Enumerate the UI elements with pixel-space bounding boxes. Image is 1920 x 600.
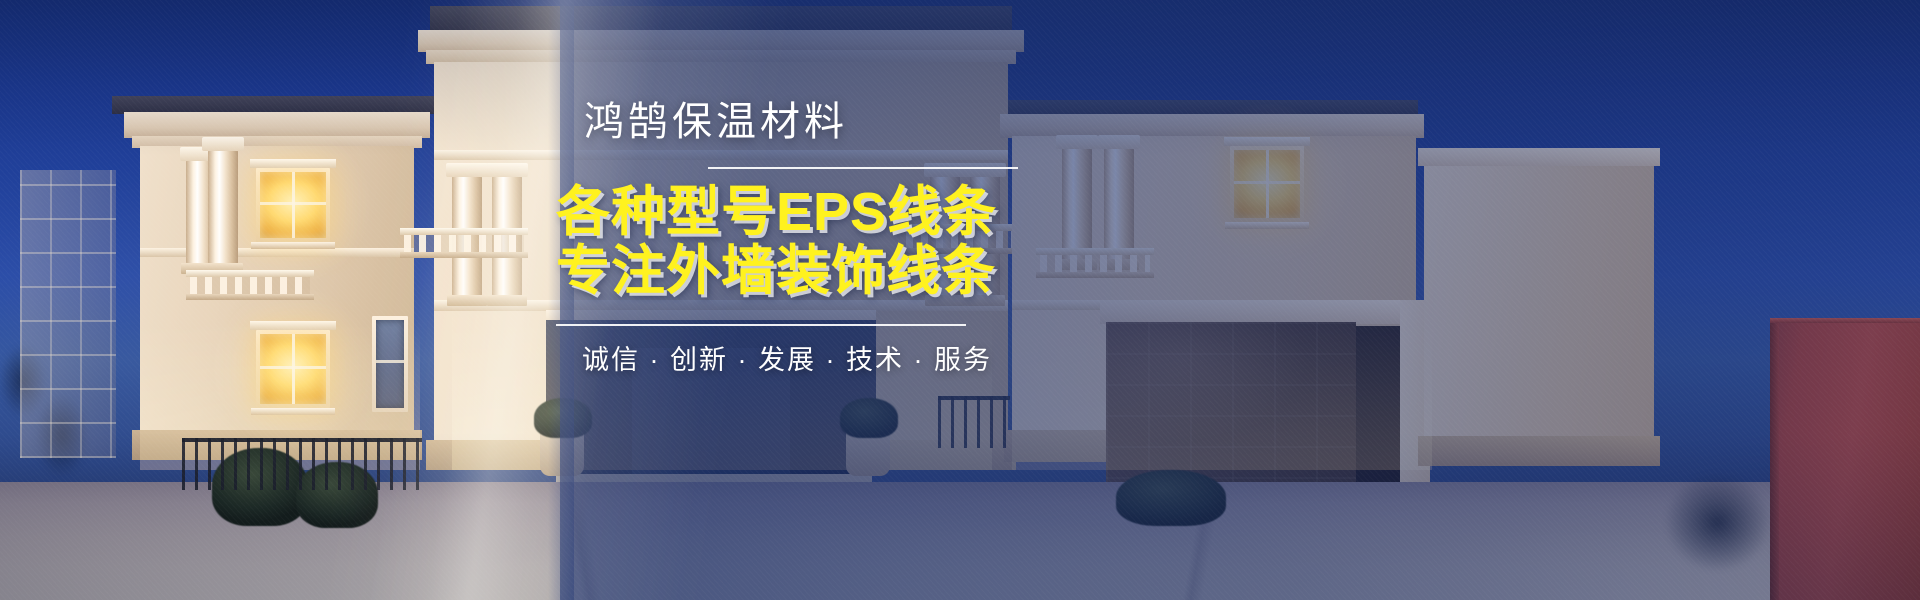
left-wing-string-course [140,248,414,257]
iron-railing-right [938,396,1010,448]
column-right-b [1104,148,1134,260]
far-right-cornice [1418,148,1660,166]
shrub-center-right [840,398,898,438]
company-name: 鸿鹄保温材料 [556,96,1026,149]
headline: 各种型号EPS线条 专注外墙装饰线条 [556,183,1026,302]
balustrade-right [1040,248,1150,278]
shrub-right [1116,470,1226,526]
left-wing-cornice [124,112,430,138]
column-right-a [1062,148,1092,260]
headline-line-2: 专注外墙装饰线条 [556,242,1026,301]
divider-lower [556,324,966,326]
scaffolding-left [20,170,116,458]
red-wall-cap [1770,318,1920,323]
hero-banner: 鸿鹄保温材料 各种型号EPS线条 专注外墙装饰线条 诚信 · 创新 · 发展 ·… [0,0,1920,600]
center-cornice-upper [418,30,1024,52]
window-sill-left-lower [251,408,335,415]
window-lit-left-upper [256,168,330,242]
tagline: 诚信 · 创新 · 发展 · 技术 · 服务 [556,338,1026,377]
headline-line-1: 各种型号EPS线条 [556,183,1026,242]
balustrade-left [190,270,310,300]
window-head-left-upper [250,159,336,168]
banner-text-block: 鸿鹄保温材料 各种型号EPS线条 专注外墙装饰线条 诚信 · 创新 · 发展 ·… [556,96,1026,377]
center-roof [430,6,1012,32]
far-right-base [1418,436,1660,466]
red-wall-panel [1770,318,1920,600]
balustrade-center-left [404,228,524,258]
window-lit-left-lower [256,330,330,408]
far-right-wall [1424,160,1654,460]
iron-railing [182,438,422,490]
shrub-center-left [534,398,592,438]
window-lit-right-upper [1230,146,1304,222]
hedge-far-right [1660,470,1780,600]
window-head-left-lower [250,321,336,330]
window-sill-right-upper [1225,222,1309,229]
divider-upper [708,167,1018,169]
window-dark-left-edge [372,316,408,412]
window-head-right-upper [1224,137,1310,146]
window-sill-left-upper [251,242,335,249]
column-left-b [208,150,238,264]
garage-lintel [1100,300,1418,324]
red-wall-edge [1770,318,1779,600]
